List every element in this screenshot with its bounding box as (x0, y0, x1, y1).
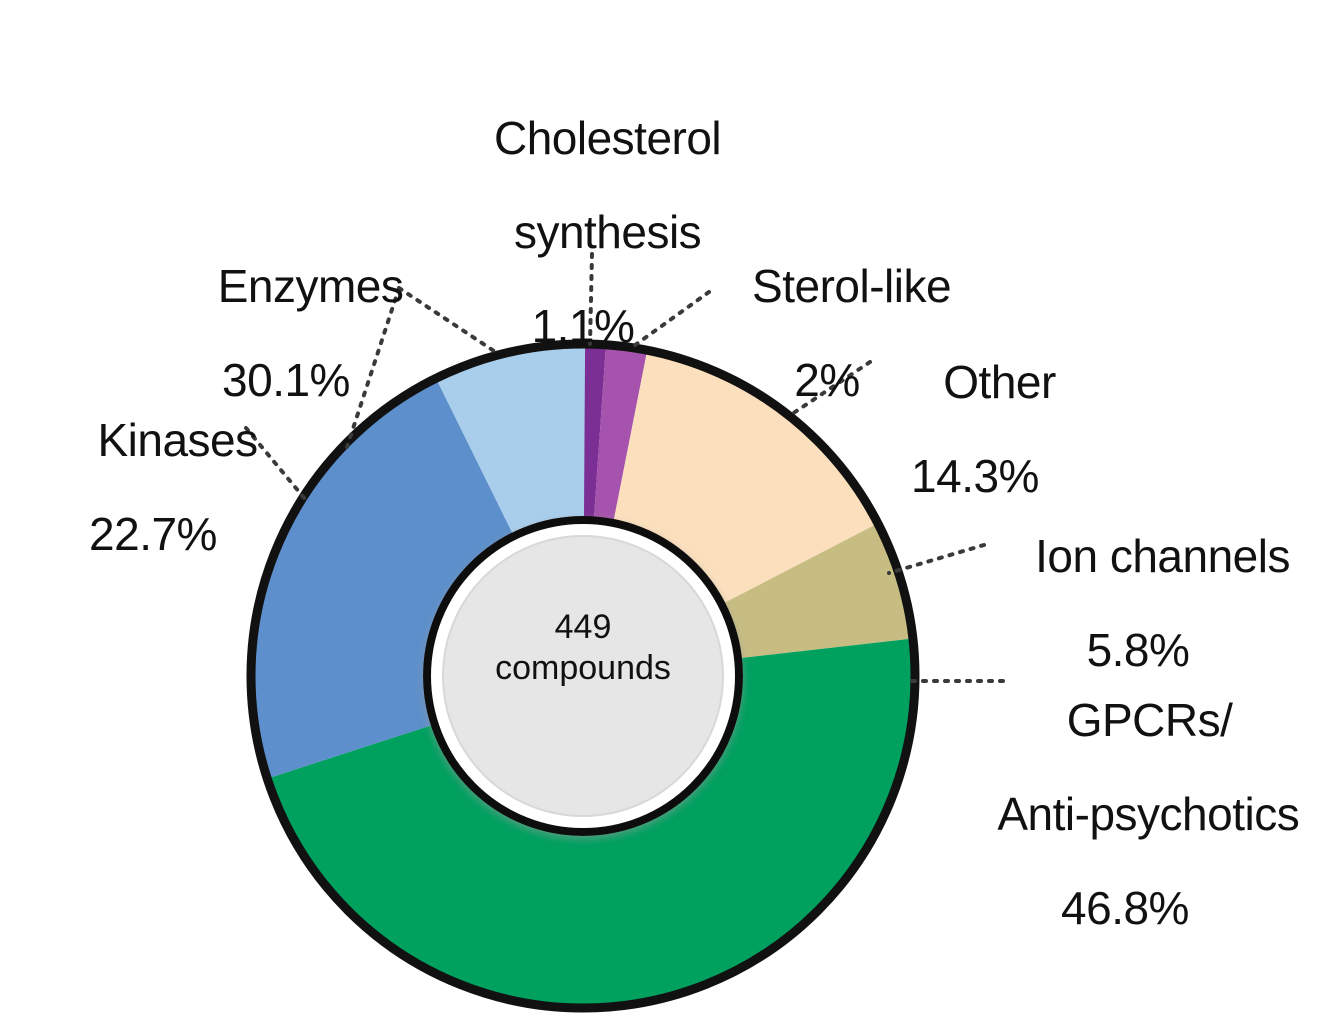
label-gpcrs-percent: 46.8% (930, 885, 1320, 932)
label-gpcrs-line1: GPCRs/ (1067, 694, 1233, 746)
label-gpcrs-antipsychotics: GPCRs/ Anti-psychotics 46.8% (930, 650, 1320, 1025)
chart-canvas: Cholesterol synthesis 1.1% Sterol-like 2… (0, 0, 1324, 1016)
label-kinases-percent: 22.7% (18, 511, 288, 558)
label-kinases: Kinases 22.7% (18, 370, 288, 651)
label-kinases-line1: Kinases (97, 414, 257, 466)
label-other-line1: Other (943, 356, 1056, 408)
label-gpcrs-line2: Anti-psychotics (997, 788, 1299, 840)
label-ion-channels-line1: Ion channels (1035, 530, 1290, 582)
donut-hub (427, 520, 739, 832)
label-cholesterol-synthesis-line1: Cholesterol (494, 112, 721, 164)
hub-grey-disc (443, 536, 723, 816)
label-sterol-like-line1: Sterol-like (752, 260, 951, 312)
label-enzymes-line1: Enzymes (218, 260, 404, 312)
